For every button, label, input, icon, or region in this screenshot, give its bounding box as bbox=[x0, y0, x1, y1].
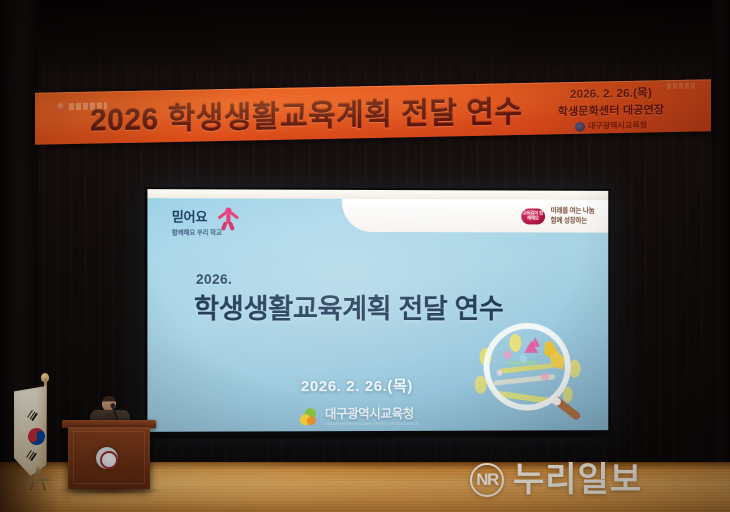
banner-venue: 학생문화센터 대공연장 bbox=[558, 101, 664, 119]
magnifying-glass-illustration-icon bbox=[464, 311, 591, 423]
podium-emblem-icon bbox=[96, 447, 118, 469]
mideoyo-campaign-logo: 믿어요 함께해요 우리 학교 bbox=[172, 210, 271, 240]
nuri-ilbo-logo-icon: NR bbox=[470, 463, 504, 497]
banner-logo-dot bbox=[57, 102, 66, 111]
auditorium-scene: 2026 학생생활교육계획 전달 연수 2026. 2. 26.(목) 학생문화… bbox=[0, 0, 730, 512]
flag-cloth bbox=[14, 386, 46, 476]
office-of-education-mark-icon bbox=[299, 408, 320, 426]
banner-organization-label: 대구광역시교육청 bbox=[588, 120, 647, 132]
taeguk-symbol-icon bbox=[26, 426, 47, 447]
ceiling-shadow bbox=[0, 0, 730, 78]
presentation-slide: 믿어요 함께해요 우리 학교 교육감이 함께해요 미래를 여는 나눔 함께 성장… bbox=[147, 198, 608, 432]
running-person-icon bbox=[216, 207, 240, 229]
trigram-geon-icon bbox=[27, 410, 38, 421]
podium-and-speaker bbox=[62, 398, 162, 490]
slide-year: 2026. bbox=[196, 272, 232, 287]
nuri-ilbo-name: 누리일보 bbox=[513, 463, 642, 497]
projection-screen: 믿어요 함께해요 우리 학교 교육감이 함께해요 미래를 여는 나눔 함께 성장… bbox=[144, 187, 610, 439]
banner-title: 2026 학생생활교육계획 전달 연수 bbox=[90, 82, 510, 144]
podium-shadow bbox=[56, 486, 164, 495]
office-name-kr: 대구광역시교육청 bbox=[325, 408, 418, 421]
campaign-slogan-line1: 미래를 여는 나눔 bbox=[551, 207, 595, 217]
press-watermark: NR 누리일보 bbox=[470, 456, 720, 504]
podium-body bbox=[68, 427, 150, 489]
magnifier-svg bbox=[464, 311, 591, 423]
korean-flag bbox=[8, 378, 62, 498]
office-of-education-logo: 대구광역시교육청 DAEGU METROPOLITAN OFFICE OF ED… bbox=[299, 408, 419, 427]
campaign-badge-icon: 교육감이 함께해요 bbox=[521, 208, 545, 224]
campaign-slogan-block: 교육감이 함께해요 미래를 여는 나눔 함께 성장하는 bbox=[521, 204, 594, 228]
slide-date: 2026. 2. 26.(목) bbox=[301, 375, 413, 396]
campaign-slogan-text: 미래를 여는 나눔 함께 성장하는 bbox=[551, 207, 595, 226]
office-name-en: DAEGU METROPOLITAN OFFICE OF EDUCATION bbox=[325, 422, 418, 426]
office-of-education-text: 대구광역시교육청 DAEGU METROPOLITAN OFFICE OF ED… bbox=[325, 408, 418, 427]
education-office-emblem-icon bbox=[575, 121, 585, 131]
banner-date: 2026. 2. 26.(목) bbox=[570, 84, 652, 102]
trigram-gon-icon bbox=[26, 450, 37, 461]
banner-info-block: 2026. 2. 26.(목) 학생문화센터 대공연장 대구광역시교육청 bbox=[521, 81, 701, 135]
campaign-slogan-line2: 함께 성장하는 bbox=[551, 217, 595, 227]
right-pillar bbox=[712, 0, 730, 470]
banner-organization: 대구광역시교육청 bbox=[575, 120, 647, 132]
